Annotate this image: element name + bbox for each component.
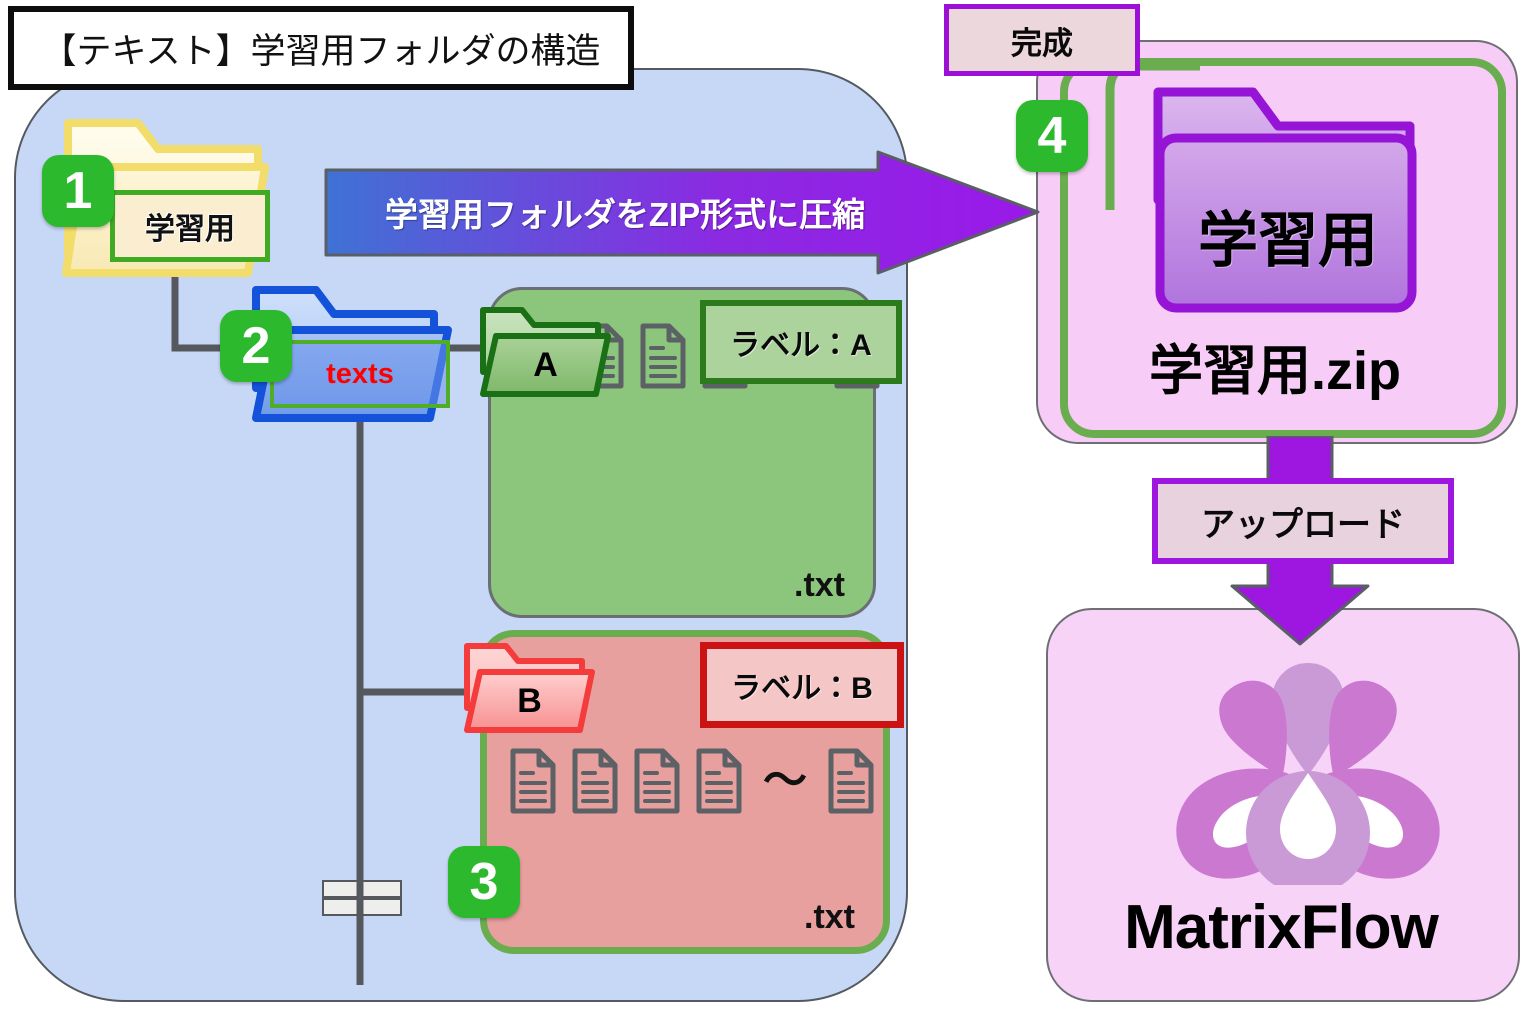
zip-filename: 学習用.zip [1036, 330, 1514, 400]
step-badge-3: 3 [448, 846, 520, 918]
done-chip: 完成 [944, 4, 1140, 76]
matrixflow-flower-logo [1158, 655, 1458, 885]
step-badge-1: 1 [42, 155, 114, 227]
root-folder-label: 学習用 [110, 190, 270, 262]
texts-folder-label: texts [270, 340, 450, 408]
page-title-box: 【テキスト】学習用フォルダの構造 [8, 6, 634, 90]
folder-icon-b[interactable]: B [462, 638, 597, 738]
diagram-canvas: 学習用 1 texts 2 [0, 0, 1536, 1013]
upload-chip: アップロード [1152, 478, 1454, 564]
label-chip-a: ラベル：A [700, 300, 902, 384]
label-chip-b: ラベル：B [700, 642, 904, 728]
page-title: 【テキスト】学習用フォルダの構造 [42, 23, 601, 74]
folder-icon-a[interactable]: A [478, 302, 613, 402]
matrixflow-product-name: MatrixFlow [1046, 890, 1516, 964]
step-badge-4: 4 [1016, 100, 1088, 172]
zip-arrow-label: 学習用フォルダをZIP形式に圧縮 [340, 170, 910, 254]
step-badge-2: 2 [220, 310, 292, 382]
zip-compress-arrow: 学習用フォルダをZIP形式に圧縮 [322, 150, 1042, 275]
